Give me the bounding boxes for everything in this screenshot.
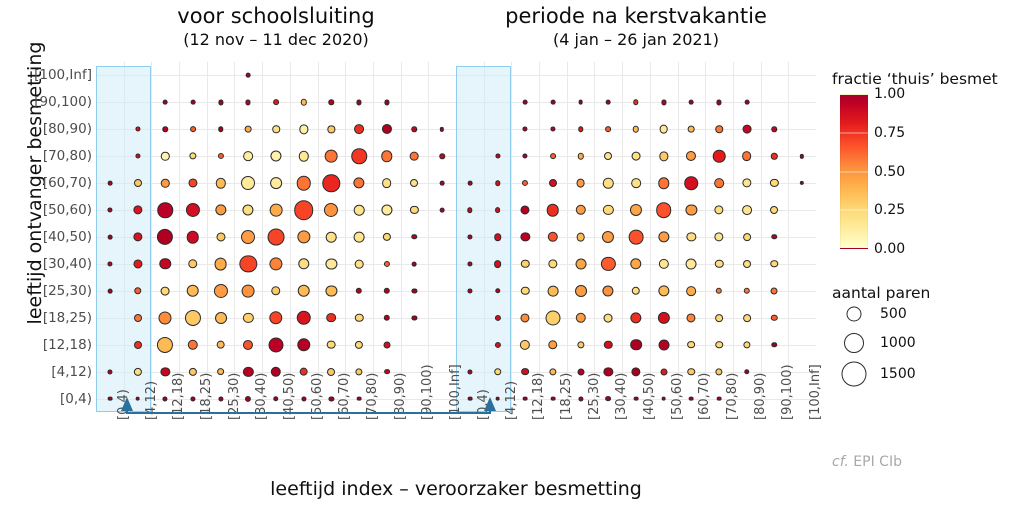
bubble-point (410, 206, 418, 214)
bubble-point (269, 337, 284, 352)
bubble-point (187, 231, 200, 244)
bubble-point (240, 255, 257, 272)
bubble-point (384, 315, 390, 321)
colorbar-tick-label: 0.50 (874, 164, 905, 180)
bubble-point (521, 232, 530, 241)
y-axis-tick-labels: [100,Inf][90,100)[80,90)[70,80)[60,70)[5… (0, 62, 92, 412)
colorbar-tick-label: 0.00 (874, 241, 905, 257)
arrow-stem-left (126, 408, 128, 414)
bubble-point (715, 314, 723, 322)
bubble-point (134, 179, 142, 187)
colorbar-tick-mark (840, 210, 868, 211)
bubble-point (632, 287, 640, 295)
bubble-point (440, 127, 444, 131)
bubble-point (412, 262, 417, 267)
bubble-point (521, 206, 530, 215)
bubble-point (494, 260, 502, 268)
bubble-point (157, 337, 173, 353)
bubble-point (381, 150, 392, 161)
bubble-point (410, 179, 418, 187)
bubble-point (575, 258, 586, 269)
bubble-point (189, 368, 197, 376)
bubble-point (770, 179, 778, 187)
bubble-point (494, 233, 502, 241)
panel-title-left: voor schoolsluiting (12 nov – 11 dec 202… (96, 4, 456, 49)
bubble-point (188, 339, 198, 349)
bubble-point (215, 312, 227, 324)
figure-root: voor schoolsluiting (12 nov – 11 dec 202… (0, 0, 1024, 514)
panel-title-left-main: voor schoolsluiting (96, 4, 456, 30)
bubble-point (381, 205, 392, 216)
bubble-point (577, 153, 583, 159)
y-tick-label: [4,12) (0, 364, 92, 380)
bubble-point (717, 100, 722, 105)
bubble-point (329, 100, 334, 105)
bubble-point (522, 180, 528, 186)
bubble-point (771, 153, 777, 159)
bubble-point (523, 127, 528, 132)
bubble-point (353, 177, 364, 188)
bubble-point (133, 368, 141, 376)
bubble-point (384, 288, 390, 294)
bubble-point (661, 100, 666, 105)
bubble-point (246, 100, 251, 105)
legend-container: fractie ‘thuis’ besmet 1.000.750.500.250… (832, 62, 1024, 482)
y-tick-label: [60,70) (0, 175, 92, 191)
bubble-point (715, 126, 723, 134)
bubble-point (521, 287, 529, 295)
bubble-point (658, 285, 669, 296)
legend-size-title: aantal paren (832, 284, 930, 302)
bubble-point (300, 99, 306, 105)
bubble-point (383, 233, 391, 241)
gridline-horizontal (96, 75, 456, 76)
bubble-point (577, 341, 584, 348)
bubble-point (357, 100, 362, 105)
figure-credit: cf. EPI CIb (832, 454, 902, 470)
bubble-point (161, 179, 169, 187)
bubble-point (242, 284, 255, 297)
bubble-point (603, 205, 613, 215)
bubble-point (297, 230, 310, 243)
bubble-point (299, 367, 308, 376)
bubble-point (547, 204, 560, 217)
bubble-point (218, 153, 224, 159)
y-tick-label: [80,90) (0, 121, 92, 137)
bubble-point (159, 311, 172, 324)
bubble-point (521, 313, 530, 322)
bubble-point (354, 124, 364, 134)
bubble-point (523, 154, 528, 159)
bubble-point (604, 367, 613, 376)
bubble-point (575, 313, 585, 323)
bubble-point (327, 313, 337, 323)
bubble-point (742, 205, 752, 215)
bubble-point (384, 261, 390, 267)
bubble-point (241, 230, 255, 244)
bubble-point (631, 178, 641, 188)
colorbar-tick-label: 0.25 (874, 202, 905, 218)
bubble-point (658, 312, 670, 324)
bubble-point (214, 258, 227, 271)
bubble-point (354, 205, 365, 216)
bubble-point (188, 259, 197, 268)
bubble-point (157, 202, 173, 218)
bubble-point (495, 288, 500, 293)
bubble-point (467, 207, 472, 212)
legend-size-label: 1000 (880, 335, 916, 351)
legend-size-circle (842, 362, 867, 387)
bubble-point (134, 341, 142, 349)
y-tick-label: [90,100) (0, 94, 92, 110)
plot-panel-before-school-closure (96, 62, 456, 412)
bubble-point (714, 178, 724, 188)
bubble-point (327, 340, 336, 349)
bubble-point (296, 311, 311, 326)
bubble-point (715, 341, 723, 349)
bubble-point (384, 100, 389, 105)
bubble-point (271, 366, 281, 376)
bubble-point (269, 311, 282, 324)
panel-title-left-sub: (12 nov – 11 dec 2020) (96, 30, 456, 50)
bubble-point (742, 125, 751, 134)
bubble-point (298, 258, 309, 269)
bubble-point (716, 288, 722, 294)
bubble-point (714, 232, 723, 241)
bubble-point (215, 204, 226, 215)
bubble-point (577, 368, 584, 375)
bubble-point (163, 100, 168, 105)
bubble-point (356, 288, 362, 294)
bubble-point (133, 205, 142, 214)
credit-source: EPI CIb (853, 454, 902, 470)
bubble-point (687, 232, 696, 241)
bubble-point (157, 229, 173, 245)
bubble-point (243, 366, 253, 376)
bubble-point (520, 340, 530, 350)
bubble-point (743, 314, 751, 322)
bubble-point (772, 234, 777, 239)
bubble-point (107, 181, 112, 186)
bubble-point (521, 260, 529, 268)
bubble-point (742, 179, 751, 188)
bubble-point (243, 205, 254, 216)
bubble-point (297, 285, 310, 298)
bubble-point (161, 367, 170, 376)
bubble-point (269, 257, 282, 270)
y-tick-label: [25,30) (0, 283, 92, 299)
bubble-point (296, 176, 311, 191)
bubble-point (134, 314, 142, 322)
bubble-point (161, 286, 170, 295)
colorbar-tick-label: 0.75 (874, 125, 905, 141)
bubble-point (658, 339, 669, 350)
bubble-point (548, 285, 559, 296)
bubble-point (549, 179, 557, 187)
bubble-point (159, 258, 170, 269)
bubble-point (382, 178, 392, 188)
bubble-point (326, 258, 337, 269)
bubble-point (630, 312, 641, 323)
bubble-point (713, 150, 726, 163)
bubble-point (578, 100, 583, 105)
panel-title-right-sub: (4 jan – 26 jan 2021) (456, 30, 816, 50)
bubble-point (214, 284, 228, 298)
bubble-point (298, 151, 308, 161)
bubble-point (187, 285, 200, 298)
bubble-point (495, 207, 501, 213)
bubble-point (216, 340, 225, 349)
bubble-point (771, 287, 778, 294)
bubble-point (548, 232, 558, 242)
bubble-point (270, 177, 282, 189)
bubble-point (633, 126, 639, 132)
bubble-point (216, 232, 225, 241)
credit-prefix: cf. (832, 454, 849, 470)
bubble-point (107, 288, 112, 293)
bubble-point (770, 206, 778, 214)
y-tick-label: [30,40) (0, 256, 92, 272)
bubble-point (744, 369, 749, 374)
bubble-point (606, 100, 611, 105)
bubble-point (743, 260, 751, 268)
y-tick-label: [18,25) (0, 310, 92, 326)
x-axis-title: leeftijd index – veroorzaker besmetting (96, 478, 816, 500)
bubble-point (412, 127, 417, 132)
bubble-point (467, 369, 472, 374)
legend-size-label: 1500 (880, 366, 916, 382)
bubble-point (243, 151, 253, 161)
bubble-point (630, 204, 642, 216)
bubble-point (800, 154, 804, 158)
bubble-point (324, 203, 338, 217)
bubble-point (550, 127, 555, 132)
bubble-point (467, 288, 472, 293)
bubble-point (800, 181, 804, 185)
bubble-point (186, 203, 200, 217)
bubble-point (135, 154, 140, 159)
bubble-point (272, 126, 280, 134)
bubble-point (412, 288, 417, 293)
bubble-point (495, 154, 500, 159)
bubble-point (217, 368, 225, 376)
bubble-point (550, 153, 556, 159)
bubble-point (326, 232, 337, 243)
bubble-point (631, 367, 640, 376)
bubble-point (297, 338, 310, 351)
annotation-line (127, 412, 491, 414)
bubble-point (744, 100, 749, 105)
bubble-point (575, 205, 585, 215)
bubble-point (548, 259, 557, 268)
bubble-point (715, 260, 723, 268)
bubble-point (633, 100, 638, 105)
y-tick-label: [50,60) (0, 202, 92, 218)
bubble-point (658, 177, 669, 188)
bubble-point (523, 100, 528, 105)
y-tick-label: [100,Inf] (0, 67, 92, 83)
bubble-point (771, 260, 779, 268)
bubble-point (323, 174, 340, 191)
panel-title-right-main: periode na kerstvakantie (456, 4, 816, 30)
bubble-point (327, 368, 335, 376)
bubble-point (270, 151, 281, 162)
bubble-point (632, 152, 641, 161)
bubble-point (294, 200, 314, 220)
bubble-point (246, 73, 251, 78)
bubble-point (133, 232, 142, 241)
bubble-point (467, 261, 472, 266)
arrow-stem-right (489, 408, 491, 414)
bubble-point (494, 342, 500, 348)
bubble-point (578, 127, 583, 132)
bubble-point (772, 127, 777, 132)
bubble-point (494, 315, 500, 321)
bubble-point (659, 125, 668, 134)
legend-size-circle (844, 333, 864, 353)
bubble-point (688, 126, 695, 133)
bubble-point (742, 151, 752, 161)
bubble-point (215, 178, 225, 188)
bubble-point (355, 341, 363, 349)
bubble-point (714, 205, 723, 214)
bubble-point (439, 153, 444, 158)
bubble-point (355, 314, 363, 322)
colorbar-tick-mark (840, 171, 868, 172)
bubble-point (603, 178, 613, 188)
bubble-point (133, 259, 142, 268)
bubble-point (685, 176, 699, 190)
bubble-point (630, 339, 642, 351)
bubble-point (771, 315, 777, 321)
bubble-point (686, 151, 696, 161)
bubble-point (659, 259, 669, 269)
bubble-point (549, 368, 556, 375)
bubble-point (660, 368, 667, 375)
y-tick-label: [12,18) (0, 337, 92, 353)
bubble-point (412, 315, 417, 320)
y-tick-label: [40,50) (0, 229, 92, 245)
bubble-point (412, 234, 417, 239)
bubble-point (551, 100, 556, 105)
bubble-point (135, 127, 140, 132)
bubble-point (440, 208, 445, 213)
bubble-point (107, 369, 112, 374)
bubble-point (601, 257, 615, 271)
bubble-point (772, 342, 777, 347)
bubble-point (191, 100, 196, 105)
bubble-point (382, 124, 392, 134)
colorbar-tick-mark (840, 132, 868, 133)
bubble-point (107, 261, 112, 266)
bubble-point (687, 313, 696, 322)
legend-fill-title: fractie ‘thuis’ besmet (832, 70, 998, 88)
bubble-point (659, 152, 668, 161)
panel-title-right: periode na kerstvakantie (4 jan – 26 jan… (456, 4, 816, 49)
plot-panel-after-christmas-holiday (456, 62, 816, 412)
bubble-point (384, 369, 390, 375)
bubble-point (686, 205, 697, 216)
bubble-point (743, 341, 750, 348)
bubble-point (495, 180, 500, 185)
bubble-point (602, 231, 614, 243)
bubble-point (688, 368, 696, 376)
legend-size-label: 500 (880, 306, 907, 322)
colorbar-tick-label: 1.00 (874, 86, 905, 102)
bubble-point (299, 125, 308, 134)
bubble-point (656, 202, 672, 218)
bubble-point (605, 126, 611, 132)
bubble-point (548, 340, 557, 349)
bubble-point (190, 126, 196, 132)
y-tick-label: [70,80) (0, 148, 92, 164)
bubble-point (271, 286, 280, 295)
bubble-point (521, 368, 529, 376)
bubble-point (326, 285, 337, 296)
bubble-point (576, 233, 585, 242)
bubble-point (161, 152, 169, 160)
bubble-point (467, 181, 472, 186)
bubble-point (354, 232, 365, 243)
bubble-point (603, 285, 614, 296)
bubble-point (328, 126, 335, 133)
bubble-point (107, 235, 112, 240)
bubble-point (188, 179, 197, 188)
bubble-point (494, 368, 502, 376)
bubble-point (743, 233, 751, 241)
bubble-point (576, 179, 585, 188)
bubble-point (162, 127, 167, 132)
gridline-horizontal (456, 75, 816, 76)
bubble-point (218, 127, 223, 132)
legend-size-circle (847, 307, 862, 322)
bubble-point (245, 126, 252, 133)
bubble-point (744, 288, 750, 294)
bubble-point (604, 340, 612, 348)
bubble-point (440, 181, 445, 186)
bubble-point (686, 258, 697, 269)
bubble-point (545, 310, 560, 325)
bubble-point (351, 148, 367, 164)
bubble-point (689, 100, 694, 105)
bubble-point (268, 229, 285, 246)
bubble-point (243, 340, 253, 350)
bubble-point (270, 204, 283, 217)
bubble-point (575, 285, 587, 297)
bubble-point (687, 286, 697, 296)
bubble-point (629, 230, 644, 245)
bubble-point (658, 231, 669, 242)
bubble-point (218, 100, 223, 105)
bubble-point (630, 258, 641, 269)
bubble-point (355, 368, 362, 375)
bubble-point (604, 313, 613, 322)
bubble-point (410, 152, 419, 161)
bubble-point (273, 99, 279, 105)
bubble-point (355, 260, 364, 269)
bubble-point (688, 341, 696, 349)
bubble-point (107, 208, 112, 213)
bubble-point (325, 150, 338, 163)
bubble-point (185, 310, 201, 326)
bubble-point (604, 152, 612, 160)
bubble-point (243, 313, 253, 323)
bubble-point (467, 234, 472, 239)
bubble-point (189, 153, 196, 160)
bubble-point (715, 368, 722, 375)
bubble-point (134, 287, 142, 295)
bubble-point (241, 176, 255, 190)
